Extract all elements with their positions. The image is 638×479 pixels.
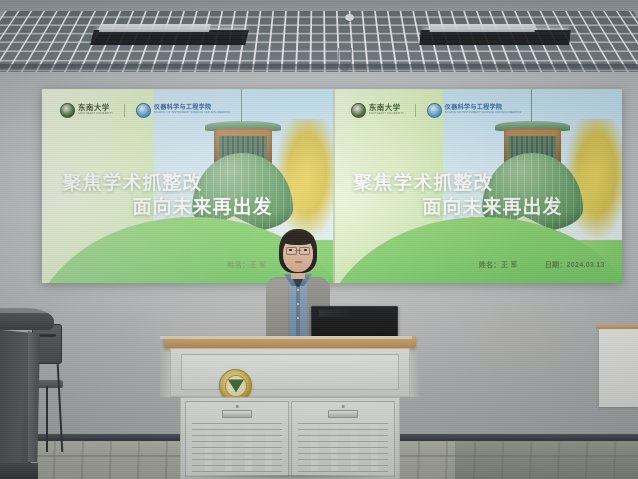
slide-right-date: 日期：2024.03.13 [545,260,605,270]
slide-left-name-label: 姓名： [228,262,250,269]
presenter-eye-left [289,249,292,251]
podium-handle-right[interactable] [328,410,358,418]
logo-text-university: 东南大学 SOUTHEAST UNIVERSITY [369,104,404,115]
grid-ceiling [0,0,638,72]
slide-left-presenter-name: 姓名：王 军 [228,260,267,270]
presenter-eye-right [304,249,307,251]
podium-handle-left[interactable] [222,410,252,418]
slide-left-title: 聚焦学术抓整改 面向未来再出发 [42,172,333,218]
logo-university-cn: 东南大学 [78,104,113,112]
logo-school-en: SCHOOL OF INSTRUMENT SCIENCE AND ENGINEE… [445,112,522,115]
logo-school-of-instrument-science: 仪器科学与工程学院 SCHOOL OF INSTRUMENT SCIENCE A… [136,103,231,118]
logo-southeast-university: 东南大学 SOUTHEAST UNIVERSITY [60,103,113,118]
ceiling-light-troffer-right [419,30,571,45]
logo-text-school: 仪器科学与工程学院 SCHOOL OF INSTRUMENT SCIENCE A… [445,105,522,115]
lectern-top-highlight [0,308,54,313]
slide-left-logo-bar: 东南大学 SOUTHEAST UNIVERSITY 仪器科学与工程学院 SCHO… [60,103,231,118]
slide-right-title-line-2: 面向未来再出发 [353,196,602,219]
lecture-podium: 东南大学 [168,336,412,479]
presenter-mouth [295,261,302,263]
logo-divider [415,104,416,117]
lectern-top [0,308,54,330]
crest-inner-ring: 东南大学 [225,375,247,397]
logo-divider [124,104,125,117]
wall-hanging-scroll [599,327,638,407]
slide-right-date-label: 日期： [545,262,567,269]
lectern-edge [28,328,40,462]
ceiling-light-panel-left [99,24,211,32]
podium-lock-left[interactable] [236,405,239,408]
ceiling-light-panel-right [430,24,536,32]
smoke-detector-icon [345,14,354,21]
podium-vents-right [298,422,388,472]
university-seal-icon [351,103,366,118]
slide-right-logo-bar: 东南大学 SOUTHEAST UNIVERSITY 仪器科学与工程学院 SCHO… [351,103,522,118]
crest-triangle [228,380,244,393]
lecture-hall-photograph: 东南大学 SOUTHEAST UNIVERSITY 仪器科学与工程学院 SCHO… [0,0,638,479]
podium-cabinet-door-left[interactable] [185,401,289,477]
slide-left-title-line-2: 面向未来再出发 [62,196,312,219]
logo-university-en: SOUTHEAST UNIVERSITY [78,113,113,116]
slide-right: 东南大学 SOUTHEAST UNIVERSITY 仪器科学与工程学院 SCHO… [333,89,622,283]
presenter-cardigan-left [266,279,288,339]
logo-university-cn: 东南大学 [369,104,404,112]
slide-right-presenter-name: 姓名：王 军 [479,260,518,270]
logo-school-of-instrument-science: 仪器科学与工程学院 SCHOOL OF INSTRUMENT SCIENCE A… [427,103,522,118]
university-seal-icon [60,103,75,118]
presenter-hair-fringe [282,232,314,245]
slide-right-name-value: 王 军 [501,262,518,269]
wall-light-smudge [455,300,585,380]
logo-university-en: SOUTHEAST UNIVERSITY [369,113,404,116]
school-seal-icon [427,103,442,118]
logo-school-en: SCHOOL OF INSTRUMENT SCIENCE AND ENGINEE… [154,112,231,115]
podium-top-highlight [160,336,412,339]
podium-lock-right[interactable] [342,405,345,408]
laptop-screen[interactable] [311,306,398,337]
podium-upper-body: 东南大学 [170,348,410,397]
podium-floor-shadow [168,475,412,479]
slide-left-title-line-1: 聚焦学术抓整改 [62,172,312,195]
slide-right-title: 聚焦学术抓整改 面向未来再出发 [333,172,622,218]
slide-right-name-label: 姓名： [479,262,501,269]
lectern-base [0,463,38,479]
podium-vents-left [192,422,282,472]
eyeglass-bridge [295,250,301,251]
podium-wooden-top [164,336,416,348]
slide-right-footer: 姓名：王 军 日期：2024.03.13 [333,260,622,270]
podium-cabinet-door-right[interactable] [291,401,395,477]
podium-cabinet [180,397,400,479]
laptop-computer[interactable] [311,306,398,337]
wall-scroll-rod [596,324,638,329]
logo-text-school: 仪器科学与工程学院 SCHOOL OF INSTRUMENT SCIENCE A… [154,105,231,115]
slide-right-date-value: 2024.03.13 [567,262,605,269]
ceiling-light-troffer-left [90,30,249,45]
dark-lectern [0,308,60,479]
logo-text-university: 东南大学 SOUTHEAST UNIVERSITY [78,104,113,115]
slide-right-title-line-1: 聚焦学术抓整改 [353,172,602,195]
floor-shadow-area [455,441,638,479]
school-seal-icon [136,103,151,118]
podium-front-panel [181,354,399,390]
logo-southeast-university: 东南大学 SOUTHEAST UNIVERSITY [351,103,404,118]
laptop-screen-glare [319,310,353,317]
